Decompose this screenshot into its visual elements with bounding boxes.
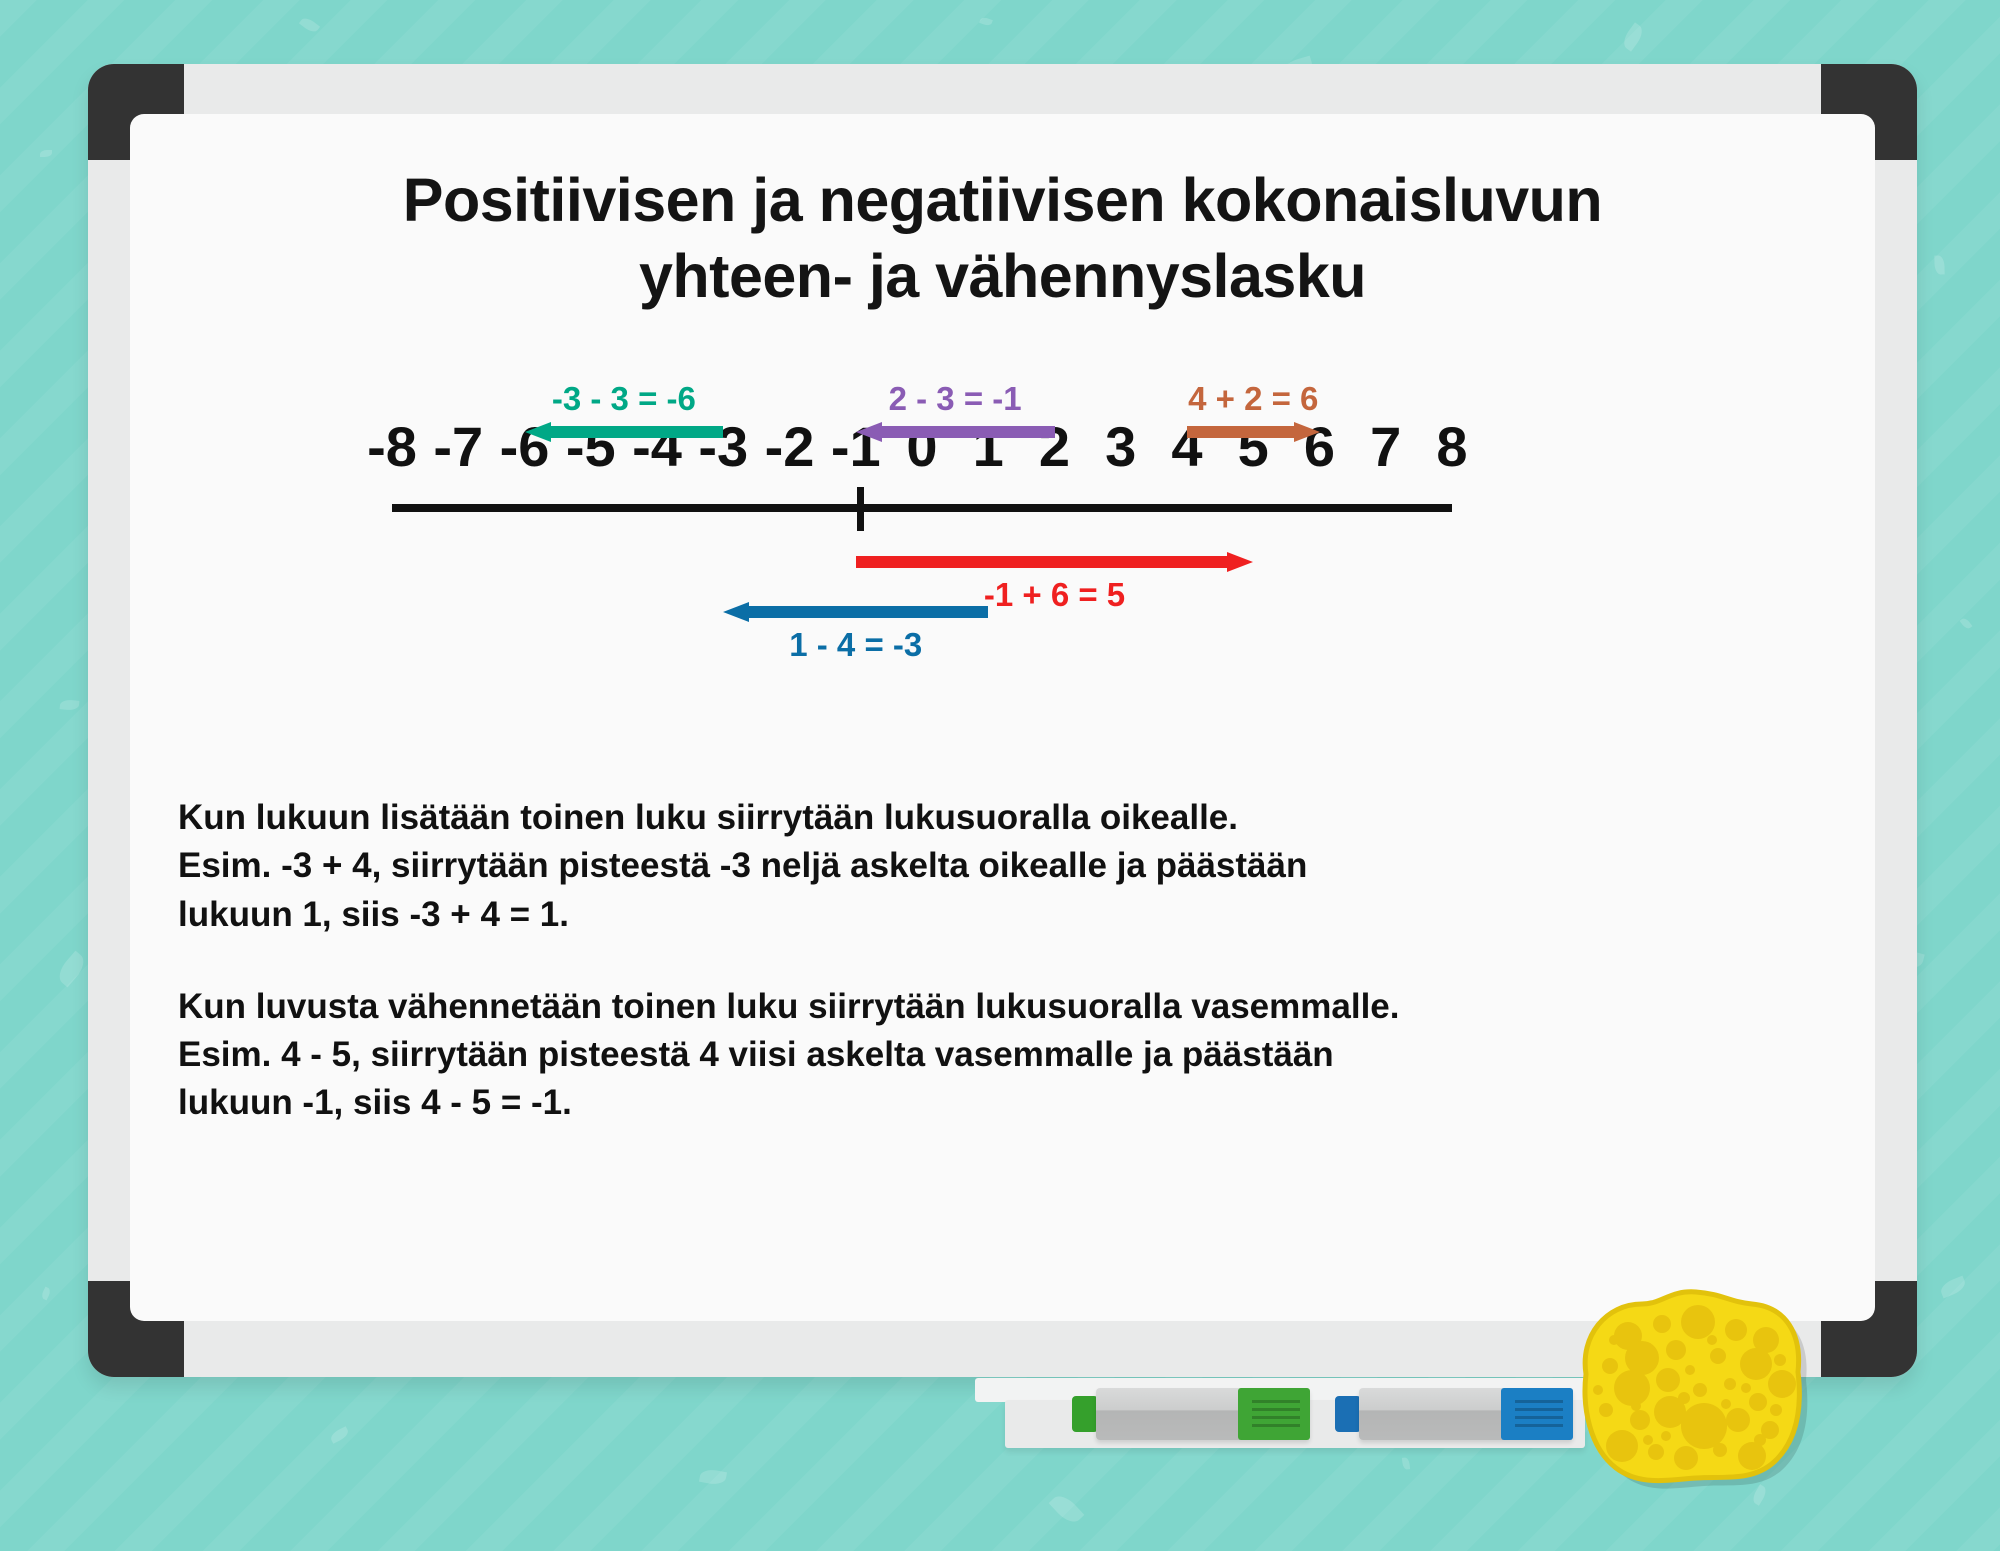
sponge-hole [1606,1430,1638,1462]
para1-line2: Esim. -3 + 4, siirrytään pisteestä -3 ne… [178,842,1818,890]
sponge-hole [1725,1319,1747,1341]
wall-leaf-decoration [60,699,80,711]
sponge-hole [1738,1442,1766,1470]
equation-label-blue: 1 - 4 = -3 [789,626,922,664]
sponge-hole [1774,1354,1786,1366]
para1-line3: lukuun 1, siis -3 + 4 = 1. [178,891,1818,939]
sponge-hole [1661,1431,1671,1441]
sponge-hole [1599,1403,1613,1417]
wall-leaf-decoration [299,15,320,34]
arrow-head-purple [856,422,882,442]
arrow-purple [856,422,1055,442]
equation-label-teal: -3 - 3 = -6 [552,380,696,418]
arrow-orange [1187,422,1320,442]
arrow-shaft-red [856,556,1232,568]
sponge-hole [1740,1348,1772,1380]
wall-leaf-decoration [979,16,993,27]
sponge-hole [1593,1385,1603,1395]
sponge-hole [1721,1399,1731,1409]
sponge-hole [1602,1358,1618,1374]
number-line-tick-3: 3 [1105,414,1136,479]
arrow-head-orange [1294,422,1320,442]
number-line-tick--8: -8 [367,414,417,479]
sponge-hole [1609,1335,1619,1345]
arrow-teal [525,422,724,442]
wall-leaf-decoration [699,1468,727,1486]
arrow-blue [723,602,988,622]
sponge-hole [1693,1383,1707,1397]
green-marker-grip-stripes [1252,1400,1300,1428]
number-line-tick-7: 7 [1370,414,1401,479]
para1-line1: Kun lukuun lisätään toinen luku siirrytä… [178,794,1818,842]
number-line-tick--2: -2 [765,414,815,479]
sponge-hole [1648,1444,1664,1460]
wall-leaf-decoration [1934,255,1944,274]
sponge-hole [1666,1340,1686,1360]
sponge-hole [1653,1315,1671,1333]
sponge-hole [1625,1341,1659,1375]
board-writing-surface: Positiivisen ja negatiivisen kokonaisluv… [130,114,1875,1321]
sponge-eraser[interactable] [1570,1280,1810,1495]
para2-line1: Kun luvusta vähennetään toinen luku siir… [178,983,1818,1031]
sponge-hole [1681,1403,1727,1449]
blue-marker-tail [1335,1396,1361,1432]
sponge-hole [1768,1370,1796,1398]
arrow-head-red [1227,552,1253,572]
wall-leaf-decoration [1049,1491,1085,1527]
para2-line2: Esim. 4 - 5, siirrytään pisteestä 4 viis… [178,1031,1818,1079]
sponge-hole [1770,1404,1782,1416]
sponge-hole [1630,1410,1650,1430]
sponge-hole [1643,1435,1653,1445]
sponge-hole [1754,1434,1766,1446]
number-line-tick-8: 8 [1436,414,1467,479]
number-line-diagram: -8-7-6-5-4-3-2-1012345678 -3 - 3 = -62 -… [130,114,1875,1321]
equation-label-orange: 4 + 2 = 6 [1188,380,1318,418]
arrow-shaft-orange [1187,426,1298,438]
arrow-head-blue [723,602,749,622]
arrow-shaft-blue [745,606,988,618]
sponge-hole [1631,1401,1641,1411]
sponge-hole [1713,1443,1727,1457]
sponge-hole [1656,1368,1680,1392]
sponge-hole [1681,1305,1715,1339]
para2-line3: lukuun -1, siis 4 - 5 = -1. [178,1079,1818,1127]
wall-leaf-decoration [1960,617,1973,631]
wall-leaf-decoration [40,150,52,157]
arrow-shaft-purple [878,426,1055,438]
number-line-axis [392,504,1452,512]
wall-leaf-decoration [54,951,89,988]
equation-label-purple: 2 - 3 = -1 [889,380,1022,418]
sponge-hole [1614,1370,1650,1406]
sponge-hole [1707,1335,1717,1345]
arrow-head-teal [525,422,551,442]
arrow-shaft-teal [547,426,724,438]
wall-leaf-decoration [1620,22,1647,51]
arrow-red [856,552,1254,572]
blue-marker[interactable] [1335,1388,1573,1440]
wall-leaf-decoration [1938,1276,1967,1299]
blue-marker-grip-stripes [1515,1400,1563,1428]
sponge-hole [1726,1408,1750,1432]
number-line-zero-tick [857,487,864,531]
sponge-hole [1749,1393,1767,1411]
green-marker-tail [1072,1396,1098,1432]
sponge-hole [1724,1378,1736,1390]
green-marker[interactable] [1072,1388,1310,1440]
paragraph-gap [178,939,1818,983]
number-line-tick--7: -7 [433,414,483,479]
sponge-hole [1685,1365,1695,1375]
sponge-hole [1741,1383,1751,1393]
whiteboard: Positiivisen ja negatiivisen kokonaisluv… [88,64,1917,1377]
explanation-text: Kun lukuun lisätään toinen luku siirrytä… [178,794,1818,1128]
wall-leaf-decoration [329,1426,350,1444]
wall-leaf-decoration [40,1287,52,1301]
sponge-hole [1678,1392,1690,1404]
wall-leaf-decoration [1402,1457,1410,1470]
equation-label-red: -1 + 6 = 5 [984,576,1125,614]
sponge-hole [1674,1446,1698,1470]
sponge-hole [1710,1348,1726,1364]
